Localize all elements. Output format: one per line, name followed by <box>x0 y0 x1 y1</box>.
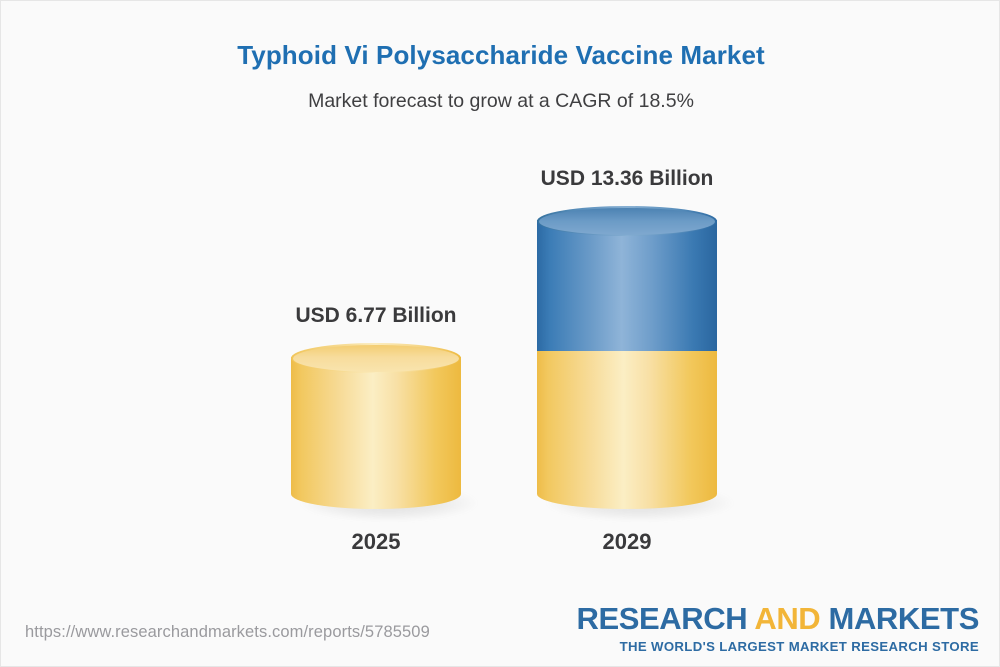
cylinder-2029 <box>537 206 717 509</box>
cylinder-top-face <box>539 208 715 235</box>
category-label-2029: 2029 <box>497 529 757 555</box>
category-label-2025: 2025 <box>251 529 501 555</box>
cylinder-blue-lower-curve <box>537 337 717 351</box>
source-url[interactable]: https://www.researchandmarkets.com/repor… <box>25 623 430 642</box>
cylinder-body-blue <box>537 220 717 351</box>
cylinder-top-face <box>293 345 459 372</box>
plot-area: USD 6.77 Billion 2025 USD 13.36 Billion <box>1 1 1000 601</box>
brand-logo: RESEARCH AND MARKETS THE WORLD'S LARGEST… <box>576 603 979 654</box>
brand-word-research: RESEARCH <box>576 601 754 636</box>
cylinder-2025 <box>291 343 461 509</box>
value-label-2025: USD 6.77 Billion <box>251 304 501 328</box>
chart-canvas: Typhoid Vi Polysaccharide Vaccine Market… <box>0 0 1000 667</box>
cylinder-body-gold <box>537 351 717 494</box>
brand-word-and: AND <box>754 601 828 636</box>
value-label-2029: USD 13.36 Billion <box>497 167 757 191</box>
brand-tagline: THE WORLD'S LARGEST MARKET RESEARCH STOR… <box>576 639 979 654</box>
brand-wordmark: RESEARCH AND MARKETS <box>576 603 979 636</box>
cylinder-body-gold <box>291 357 461 494</box>
brand-word-markets: MARKETS <box>829 601 979 636</box>
